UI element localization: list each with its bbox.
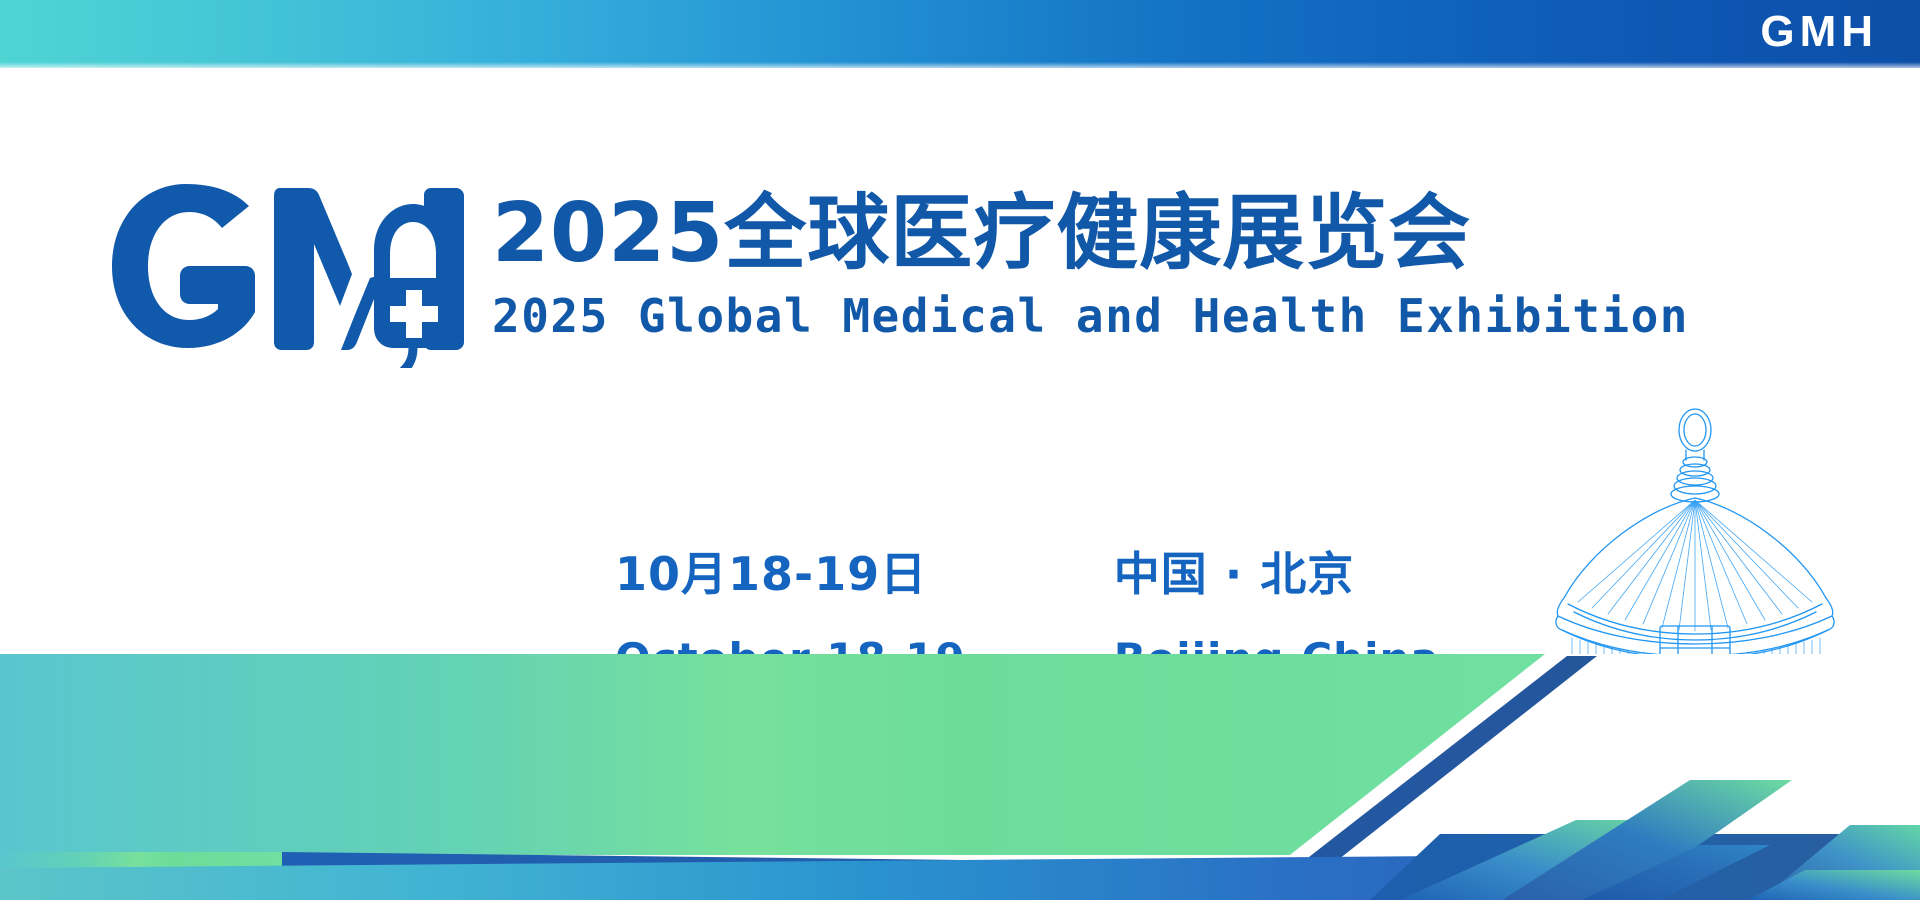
event-date-english: October 18-19 [615,631,966,687]
event-date-chinese: 10月18-19日 [615,545,966,603]
stethoscope-cross-icon [374,204,452,368]
title-block: 2025全球医疗健康展览会 2025 Global Medical and He… [492,186,1492,344]
event-banner: GMH [0,0,1920,900]
event-venue-block: 中国 · 北京 Beijing,China [1114,545,1440,687]
temple-of-heaven-icon [1480,400,1910,900]
event-date-block: 10月18-19日 October 18-19 [615,545,966,687]
event-venue-english: Beijing,China [1114,631,1440,687]
gmh-logo-mark [108,178,488,368]
event-venue-chinese: 中国 · 北京 [1114,545,1440,603]
event-title-chinese: 2025全球医疗健康展览会 [492,186,1492,282]
top-bar-brand-logo: GMH [1760,0,1878,68]
event-meta-row: 10月18-19日 October 18-19 中国 · 北京 Beijing,… [615,545,1440,687]
top-gradient-bar [0,0,1920,68]
event-title-english: 2025 Global Medical and Health Exhibitio… [492,288,1492,344]
